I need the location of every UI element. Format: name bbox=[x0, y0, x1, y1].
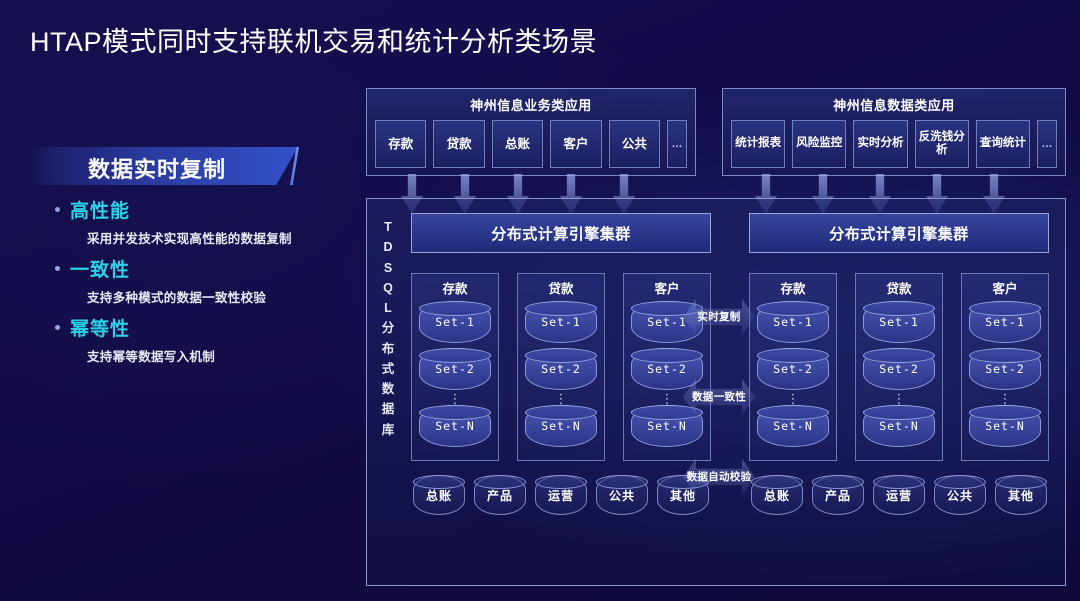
set-column-title: 客户 bbox=[969, 278, 1041, 297]
sync-arrow-label: 数据一致性 bbox=[683, 389, 755, 404]
shared-db-cylinder[interactable]: 运营 bbox=[873, 475, 925, 515]
tdsql-panel: T D S Q L 分 布 式 数 据 库 分布式计算引擎集群 存款 Set-1 bbox=[366, 198, 1066, 586]
set-label: Set-1 bbox=[647, 315, 687, 329]
shared-db-cylinder[interactable]: 产品 bbox=[812, 475, 864, 515]
tdsql-cluster-right: 分布式计算引擎集群 存款 Set-1 Set-2 ⋮ Set-N 贷款 Set-… bbox=[749, 213, 1049, 573]
set-column: 客户 Set-1 Set-2 ⋮ Set-N bbox=[961, 273, 1049, 461]
bullet-description: 支持幂等数据写入机制 bbox=[87, 346, 352, 365]
shared-db-cylinder[interactable]: 总账 bbox=[413, 475, 465, 515]
vlabel-char: 分 bbox=[376, 318, 400, 338]
set-ellipsis: ⋮ bbox=[757, 395, 829, 403]
app-group-title: 神州信息数据类应用 bbox=[723, 95, 1065, 114]
set-label: Set-N bbox=[541, 419, 581, 433]
tdsql-cluster-left: 分布式计算引擎集群 存款 Set-1 Set-2 ⋮ Set-N 贷款 Set-… bbox=[411, 213, 711, 573]
shared-db-label: 总账 bbox=[426, 487, 452, 504]
app-group-business: 神州信息业务类应用 存款 贷款 总账 客户 公共 … bbox=[366, 88, 696, 176]
database-set-cylinder[interactable]: Set-2 bbox=[525, 348, 597, 390]
set-label: Set-2 bbox=[773, 362, 813, 376]
slide-canvas: HTAP模式同时支持联机交易和统计分析类场景 数据实时复制 高性能 采用并发技术… bbox=[0, 0, 1080, 601]
app-chip[interactable]: 客户 bbox=[550, 120, 601, 168]
set-column: 存款 Set-1 Set-2 ⋮ Set-N bbox=[749, 273, 837, 461]
set-column-title: 贷款 bbox=[863, 278, 935, 297]
app-chip[interactable]: 贷款 bbox=[433, 120, 484, 168]
shared-db-row: 总账 产品 运营 公共 其他 bbox=[411, 475, 711, 515]
set-label: Set-N bbox=[773, 419, 813, 433]
vlabel-char: T bbox=[376, 217, 400, 237]
vlabel-char: Q bbox=[376, 278, 400, 298]
sync-arrow-label: 数据自动校验 bbox=[683, 469, 755, 484]
list-item: 一致性 支持多种模式的数据一致性校验 bbox=[52, 255, 352, 306]
set-label: Set-N bbox=[435, 419, 475, 433]
app-chip[interactable]: 反洗钱分析 bbox=[915, 120, 969, 168]
set-ellipsis: ⋮ bbox=[525, 395, 597, 403]
bullet-title: 高性能 bbox=[70, 196, 130, 223]
bullet-description: 支持多种模式的数据一致性校验 bbox=[87, 287, 352, 306]
vlabel-char: 数 bbox=[376, 379, 400, 399]
compute-engine-cluster: 分布式计算引擎集群 bbox=[411, 213, 711, 253]
set-label: Set-N bbox=[879, 419, 919, 433]
set-label: Set-2 bbox=[541, 362, 581, 376]
vlabel-char: 式 bbox=[376, 359, 400, 379]
set-column-title: 贷款 bbox=[525, 278, 597, 297]
vlabel-char: 库 bbox=[376, 420, 400, 440]
set-column-row: 存款 Set-1 Set-2 ⋮ Set-N 贷款 Set-1 Set-2 ⋮ … bbox=[411, 273, 711, 461]
shared-db-label: 产品 bbox=[825, 487, 851, 504]
database-set-cylinder[interactable]: Set-N bbox=[969, 405, 1041, 447]
compute-engine-cluster: 分布式计算引擎集群 bbox=[749, 213, 1049, 253]
app-chip-more[interactable]: … bbox=[1037, 120, 1057, 168]
set-label: Set-1 bbox=[879, 315, 919, 329]
app-chip-more[interactable]: … bbox=[667, 120, 687, 168]
database-set-cylinder[interactable]: Set-2 bbox=[863, 348, 935, 390]
database-set-cylinder[interactable]: Set-2 bbox=[419, 348, 491, 390]
shared-db-label: 公共 bbox=[609, 487, 635, 504]
vlabel-char: L bbox=[376, 298, 400, 318]
bullet-dot-icon bbox=[55, 207, 60, 212]
vlabel-char: 据 bbox=[376, 399, 400, 419]
set-ellipsis: ⋮ bbox=[863, 395, 935, 403]
set-label: Set-1 bbox=[985, 315, 1025, 329]
set-label: Set-1 bbox=[435, 315, 475, 329]
page-title: HTAP模式同时支持联机交易和统计分析类场景 bbox=[30, 20, 597, 59]
app-chip[interactable]: 实时分析 bbox=[853, 120, 907, 168]
database-set-cylinder[interactable]: Set-1 bbox=[863, 301, 935, 343]
app-chip[interactable]: 风险监控 bbox=[792, 120, 846, 168]
vlabel-char: D bbox=[376, 237, 400, 257]
shared-db-row: 总账 产品 运营 公共 其他 bbox=[749, 475, 1049, 515]
set-column: 贷款 Set-1 Set-2 ⋮ Set-N bbox=[517, 273, 605, 461]
sync-arrow-label: 实时复制 bbox=[683, 309, 755, 324]
set-label: Set-1 bbox=[773, 315, 813, 329]
set-label: Set-N bbox=[647, 419, 687, 433]
database-set-cylinder[interactable]: Set-2 bbox=[757, 348, 829, 390]
app-group-data: 神州信息数据类应用 统计报表 风险监控 实时分析 反洗钱分析 查询统计 … bbox=[722, 88, 1066, 176]
set-column-row: 存款 Set-1 Set-2 ⋮ Set-N 贷款 Set-1 Set-2 ⋮ … bbox=[749, 273, 1049, 461]
set-label: Set-2 bbox=[985, 362, 1025, 376]
list-item: 高性能 采用并发技术实现高性能的数据复制 bbox=[52, 196, 352, 247]
shared-db-label: 总账 bbox=[764, 487, 790, 504]
set-ellipsis: ⋮ bbox=[969, 395, 1041, 403]
set-column-title: 客户 bbox=[631, 278, 703, 297]
set-column-title: 存款 bbox=[419, 278, 491, 297]
database-set-cylinder[interactable]: Set-2 bbox=[969, 348, 1041, 390]
database-set-cylinder[interactable]: Set-N bbox=[525, 405, 597, 447]
bullet-dot-icon bbox=[55, 266, 60, 271]
app-chip[interactable]: 存款 bbox=[375, 120, 426, 168]
app-chip[interactable]: 总账 bbox=[492, 120, 543, 168]
bullet-heading: 高性能 bbox=[52, 196, 352, 223]
app-chip[interactable]: 统计报表 bbox=[731, 120, 785, 168]
shared-db-cylinder[interactable]: 产品 bbox=[474, 475, 526, 515]
app-chip-row: 存款 贷款 总账 客户 公共 … bbox=[367, 120, 695, 168]
shared-db-label: 其他 bbox=[1008, 487, 1034, 504]
shared-db-cylinder[interactable]: 总账 bbox=[751, 475, 803, 515]
bullet-title: 幂等性 bbox=[70, 314, 130, 341]
shared-db-label: 其他 bbox=[670, 487, 696, 504]
set-label: Set-2 bbox=[435, 362, 475, 376]
database-set-cylinder[interactable]: Set-N bbox=[757, 405, 829, 447]
shared-db-cylinder[interactable]: 公共 bbox=[934, 475, 986, 515]
vlabel-char: 布 bbox=[376, 339, 400, 359]
bullet-heading: 一致性 bbox=[52, 255, 352, 282]
database-set-cylinder[interactable]: Set-1 bbox=[525, 301, 597, 343]
app-chip[interactable]: 查询统计 bbox=[976, 120, 1030, 168]
set-column-title: 存款 bbox=[757, 278, 829, 297]
database-set-cylinder[interactable]: Set-1 bbox=[757, 301, 829, 343]
database-set-cylinder[interactable]: Set-N bbox=[863, 405, 935, 447]
architecture-diagram: 神州信息业务类应用 存款 贷款 总账 客户 公共 … 神州信息数据类应用 统计报… bbox=[366, 88, 1066, 586]
database-set-cylinder[interactable]: Set-1 bbox=[969, 301, 1041, 343]
bullet-description: 采用并发技术实现高性能的数据复制 bbox=[87, 228, 352, 247]
section-ribbon: 数据实时复制 bbox=[26, 147, 298, 185]
app-chip-row: 统计报表 风险监控 实时分析 反洗钱分析 查询统计 … bbox=[723, 120, 1065, 168]
set-ellipsis: ⋮ bbox=[419, 395, 491, 403]
ribbon-label: 数据实时复制 bbox=[88, 152, 226, 184]
bullet-dot-icon bbox=[55, 325, 60, 330]
database-set-cylinder[interactable]: Set-1 bbox=[419, 301, 491, 343]
app-group-title: 神州信息业务类应用 bbox=[367, 95, 695, 114]
app-chip[interactable]: 公共 bbox=[609, 120, 660, 168]
feature-bullet-list: 高性能 采用并发技术实现高性能的数据复制 一致性 支持多种模式的数据一致性校验 … bbox=[52, 196, 352, 373]
set-label: Set-1 bbox=[541, 315, 581, 329]
shared-db-label: 运营 bbox=[886, 487, 912, 504]
vlabel-char: S bbox=[376, 258, 400, 278]
shared-db-label: 产品 bbox=[487, 487, 513, 504]
shared-db-cylinder[interactable]: 公共 bbox=[596, 475, 648, 515]
tdsql-vertical-label: T D S Q L 分 布 式 数 据 库 bbox=[376, 217, 400, 440]
database-set-cylinder[interactable]: Set-N bbox=[419, 405, 491, 447]
set-column: 贷款 Set-1 Set-2 ⋮ Set-N bbox=[855, 273, 943, 461]
set-label: Set-2 bbox=[879, 362, 919, 376]
shared-db-cylinder[interactable]: 其他 bbox=[995, 475, 1047, 515]
bullet-heading: 幂等性 bbox=[52, 314, 352, 341]
shared-db-cylinder[interactable]: 运营 bbox=[535, 475, 587, 515]
set-column: 存款 Set-1 Set-2 ⋮ Set-N bbox=[411, 273, 499, 461]
shared-db-label: 公共 bbox=[947, 487, 973, 504]
set-label: Set-N bbox=[985, 419, 1025, 433]
bullet-title: 一致性 bbox=[70, 255, 130, 282]
set-label: Set-2 bbox=[647, 362, 687, 376]
shared-db-label: 运营 bbox=[548, 487, 574, 504]
list-item: 幂等性 支持幂等数据写入机制 bbox=[52, 314, 352, 365]
